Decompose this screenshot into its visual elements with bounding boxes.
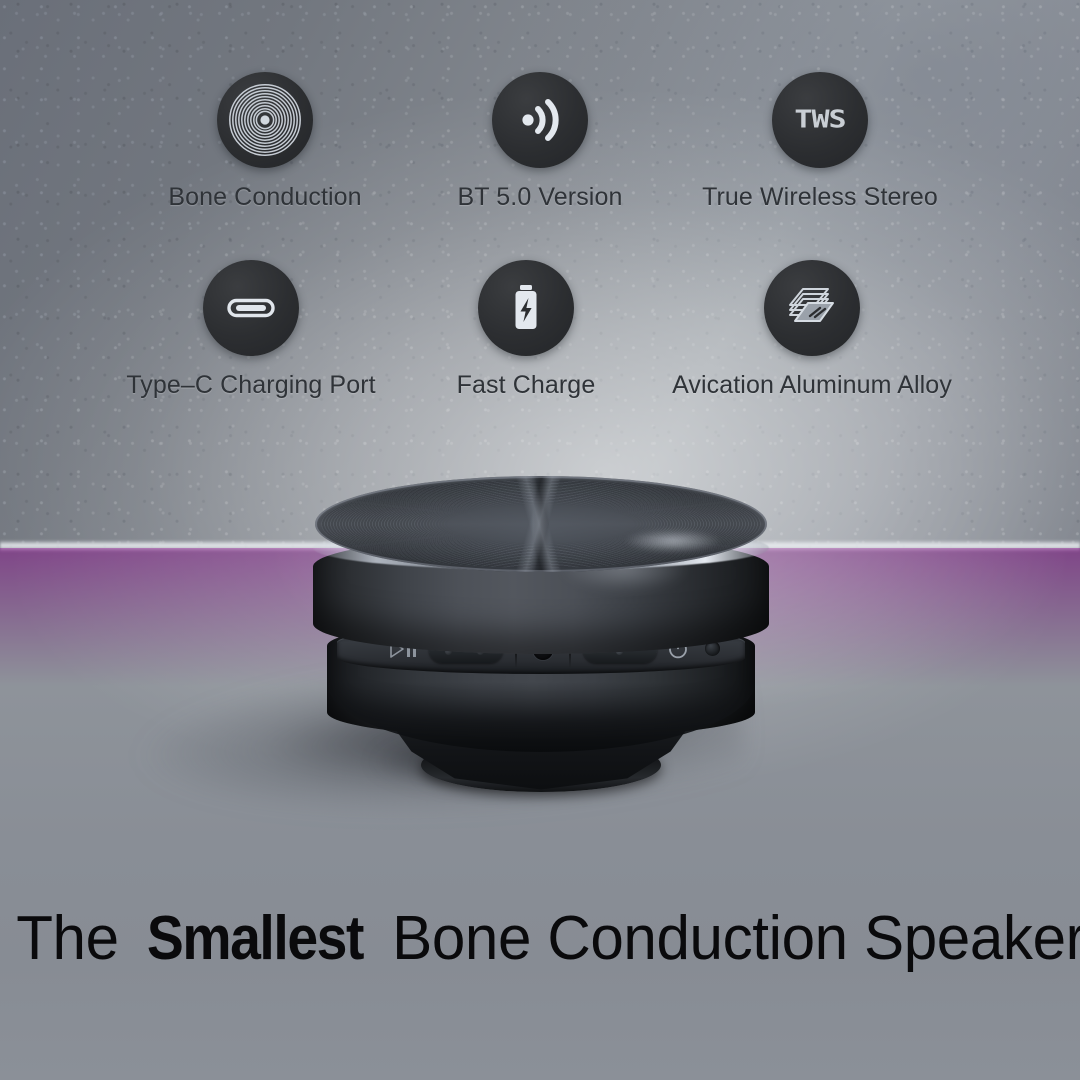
- fast-charge-badge: [478, 260, 574, 356]
- tws-badge: TWS: [772, 72, 868, 168]
- aluminum-alloy-badge: [764, 260, 860, 356]
- feature-aluminum-alloy[interactable]: Avication Aluminum Alloy: [657, 260, 967, 400]
- bone-conduction-badge: [217, 72, 313, 168]
- feature-bt-version[interactable]: BT 5.0 Version: [415, 72, 665, 212]
- tws-wordmark-icon: TWS: [794, 108, 845, 133]
- headline-part-2: Bone Conduction Speaker: [376, 904, 1080, 973]
- usb-type-c-port-icon: [221, 278, 281, 338]
- bluetooth-signal-wave-icon: [512, 92, 568, 148]
- headline-emphasis: Smallest: [145, 908, 367, 970]
- feature-label: Type–C Charging Port: [126, 371, 375, 400]
- feature-grid: Bone Conduction BT 5.0 Version TWS True …: [115, 72, 975, 400]
- feature-bone-conduction[interactable]: Bone Conduction: [115, 72, 415, 212]
- headline-part-1: The: [16, 904, 135, 973]
- stacked-aluminum-sheets-icon: [783, 279, 841, 337]
- feature-label: Fast Charge: [457, 371, 596, 400]
- bone-conduction-speaker: [303, 470, 777, 830]
- feature-type-c-port[interactable]: Type–C Charging Port: [101, 260, 401, 400]
- product-banner: Bone Conduction BT 5.0 Version TWS True …: [0, 0, 1080, 1080]
- headline: The Smallest Bone Conduction Speaker: [16, 908, 1064, 970]
- battery-fast-charge-icon: [498, 280, 554, 336]
- feature-fast-charge[interactable]: Fast Charge: [401, 260, 651, 400]
- feature-label: Bone Conduction: [168, 183, 361, 212]
- feature-row-2: Type–C Charging Port Fast Charge: [115, 260, 975, 400]
- feature-label: BT 5.0 Version: [458, 183, 623, 212]
- feature-true-wireless-stereo[interactable]: TWS True Wireless Stereo: [665, 72, 975, 212]
- feature-label: Avication Aluminum Alloy: [672, 371, 952, 400]
- bone-conduction-rings-icon: [228, 83, 302, 157]
- feature-row-1: Bone Conduction BT 5.0 Version TWS True …: [115, 72, 975, 212]
- bluetooth-badge: [492, 72, 588, 168]
- top-disc-specular-highlight: [603, 524, 743, 558]
- feature-label: True Wireless Stereo: [702, 183, 938, 212]
- type-c-badge: [203, 260, 299, 356]
